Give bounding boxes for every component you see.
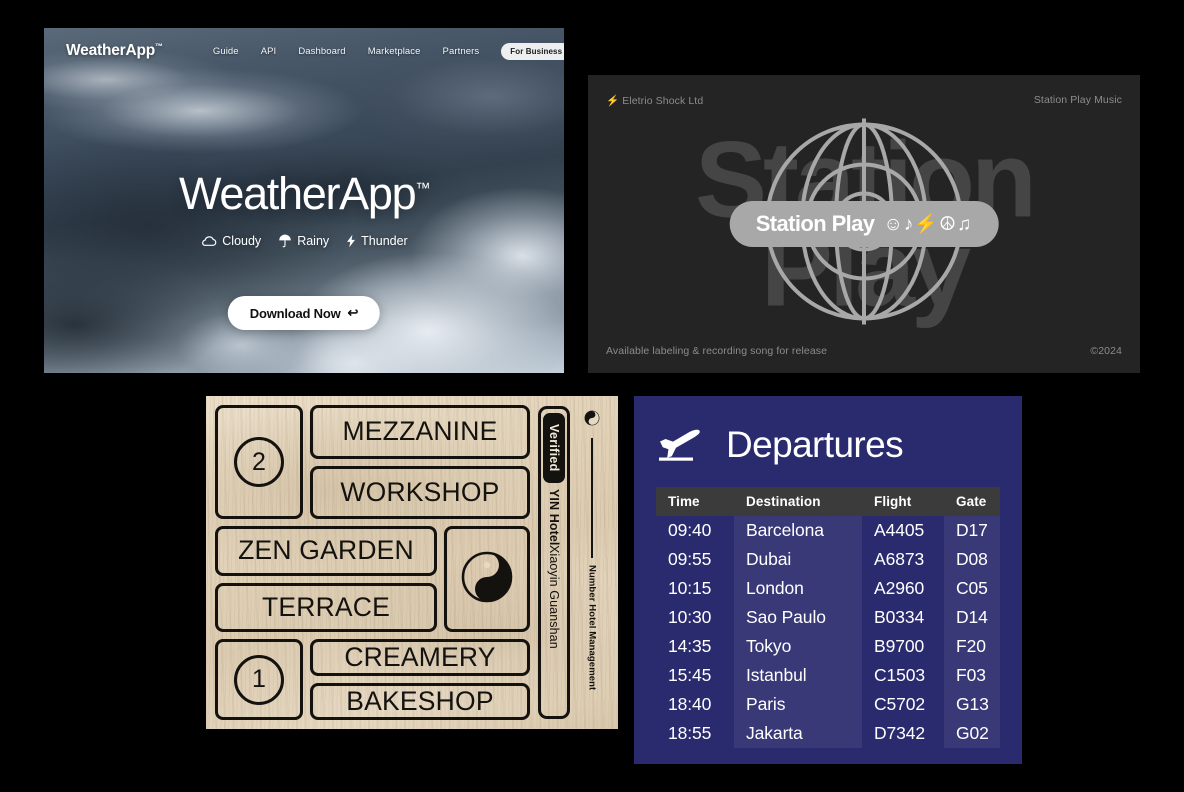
enter-arrow-icon: ↩ [348,305,359,321]
nav-link-guide[interactable]: Guide [213,46,239,57]
download-now-label: Download Now [250,306,341,321]
cell-time: 18:55 [656,719,734,748]
column-header-flight: Flight [862,487,944,516]
sign-room-mezzanine[interactable]: MEZZANINE [310,405,530,459]
table-row[interactable]: 18:55JakartaD7342G02 [656,719,1000,748]
condition-cloudy-label: Cloudy [222,234,261,248]
cell-gate: F03 [944,661,1000,690]
departures-board-panel: Departures Time Destination Flight Gate … [634,396,1022,764]
sign-side-column: Verified YIN Hotel Xiaoyin Guanshan Numb… [537,405,609,720]
departures-table-head: Time Destination Flight Gate [656,487,1000,516]
yin-yang-large-tile [444,526,530,632]
for-business-button[interactable]: For Business [501,43,564,60]
table-row[interactable]: 15:45IstanbulC1503F03 [656,661,1000,690]
cell-gate: D17 [944,516,1000,545]
sign-room-bakeshop-label: BAKESHOP [346,686,493,717]
station-play-emoji-row: ☺♪⚡☮♫ [883,212,972,236]
cloud-icon [200,235,217,247]
column-header-time: Time [656,487,734,516]
sign-room-bakeshop[interactable]: BAKESHOP [310,683,530,720]
cell-gate: D08 [944,545,1000,574]
cell-time: 14:35 [656,632,734,661]
cell-flight: C1503 [862,661,944,690]
station-bottom-meta: Available labeling & recording song for … [606,345,1122,357]
sign-middle-rooms: ZEN GARDEN TERRACE [215,526,437,632]
departures-header: Departures [656,422,1000,467]
nav-link-marketplace[interactable]: Marketplace [368,46,421,57]
cell-time: 10:30 [656,603,734,632]
table-row[interactable]: 18:40ParisC5702G13 [656,690,1000,719]
departures-table: Time Destination Flight Gate 09:40Barcel… [656,487,1000,748]
station-copyright: ©2024 [1090,345,1122,357]
nav-link-partners[interactable]: Partners [443,46,480,57]
sign-floor-1-rooms: CREAMERY BAKESHOP [310,639,530,720]
weather-brand-text: WeatherApp [66,42,155,59]
cell-gate: D14 [944,603,1000,632]
cell-flight: A2960 [862,574,944,603]
sign-main-grid: 2 MEZZANINE WORKSHOP ZEN GARDEN [215,405,530,720]
cell-flight: D7342 [862,719,944,748]
sign-room-terrace-label: TERRACE [262,592,390,623]
hotel-name-vertical: YIN Hotel Xiaoyin Guanshan [547,489,561,712]
cell-gate: G02 [944,719,1000,748]
rain-umbrella-icon [278,234,292,248]
sign-room-creamery-label: CREAMERY [344,642,495,673]
download-now-button[interactable]: Download Now ↩ [228,296,380,330]
yin-yang-small-icon [584,410,600,431]
cell-time: 18:40 [656,690,734,719]
condition-cloudy: Cloudy [200,234,261,248]
cell-destination: Jakarta [734,719,862,748]
collage-stage: WeatherApp™ Guide API Dashboard Marketpl… [0,0,1184,792]
sign-row-floor-2: 2 MEZZANINE WORKSHOP [215,405,530,519]
cell-destination: Barcelona [734,516,862,545]
sign-row-floor-1: 1 CREAMERY BAKESHOP [215,639,530,720]
cell-time: 09:55 [656,545,734,574]
verified-badge: Verified [543,413,565,483]
cell-flight: A6873 [862,545,944,574]
sign-row-middle: ZEN GARDEN TERRACE [215,526,530,632]
cell-destination: Tokyo [734,632,862,661]
cell-gate: G13 [944,690,1000,719]
cell-time: 10:15 [656,574,734,603]
station-play-badge[interactable]: Station Play ☺♪⚡☮♫ [730,201,999,247]
station-play-badge-label: Station Play [756,211,875,237]
departures-table-body: 09:40BarcelonaA4405D1709:55DubaiA6873D08… [656,516,1000,748]
hotel-name-bold: YIN Hotel [547,489,561,545]
cell-flight: B0334 [862,603,944,632]
weather-nav-links: Guide API Dashboard Marketplace Partners… [213,43,564,60]
cell-destination: Istanbul [734,661,862,690]
cell-destination: Paris [734,690,862,719]
sign-room-creamery[interactable]: CREAMERY [310,639,530,676]
sign-room-workshop[interactable]: WORKSHOP [310,466,530,520]
hotel-name-rest: Xiaoyin Guanshan [547,545,561,649]
condition-rainy: Rainy [278,234,329,248]
departures-header-row: Time Destination Flight Gate [656,487,1000,516]
cell-destination: Dubai [734,545,862,574]
floor-number-2: 2 [215,405,303,519]
station-tagline: Available labeling & recording song for … [606,345,827,357]
sign-side-right-column: Number Hotel Management [575,406,609,719]
floor-number-1: 1 [215,639,303,720]
table-row[interactable]: 10:15LondonA2960C05 [656,574,1000,603]
weather-app-panel: WeatherApp™ Guide API Dashboard Marketpl… [44,28,564,373]
cell-destination: Sao Paulo [734,603,862,632]
departures-title: Departures [726,424,903,466]
sign-room-mezzanine-label: MEZZANINE [343,416,498,447]
floor-number-1-circle: 1 [234,655,284,705]
weather-brand-logo[interactable]: WeatherApp™ [66,42,163,60]
column-header-destination: Destination [734,487,862,516]
column-header-gate: Gate [944,487,1000,516]
cell-flight: C5702 [862,690,944,719]
weather-brand-tm: ™ [155,42,163,51]
hotel-identity-card: Verified YIN Hotel Xiaoyin Guanshan [538,406,570,719]
cell-flight: A4405 [862,516,944,545]
sign-room-terrace[interactable]: TERRACE [215,583,437,633]
cell-gate: F20 [944,632,1000,661]
side-divider-rule [591,438,593,558]
table-row[interactable]: 14:35TokyoB9700F20 [656,632,1000,661]
table-row[interactable]: 09:55DubaiA6873D08 [656,545,1000,574]
weather-conditions-list: Cloudy Rainy Thunder [200,234,407,248]
hotel-wooden-sign-panel: 2 MEZZANINE WORKSHOP ZEN GARDEN [206,396,618,729]
hero-title: WeatherApp™ [179,168,429,220]
station-play-panel: ⚡ Eletrio Shock Ltd Station Play Music S… [588,75,1140,373]
weather-navbar: WeatherApp™ Guide API Dashboard Marketpl… [44,28,564,74]
airplane-takeoff-icon [656,422,710,467]
condition-thunder-label: Thunder [361,234,408,248]
management-label: Number Hotel Management [587,565,598,690]
station-product-label: Station Play Music [1034,94,1122,107]
floor-number-2-circle: 2 [234,437,284,487]
hero-title-tm: ™ [415,180,429,197]
nav-link-dashboard[interactable]: Dashboard [298,46,345,57]
condition-rainy-label: Rainy [297,234,329,248]
sign-room-workshop-label: WORKSHOP [340,477,499,508]
cell-gate: C05 [944,574,1000,603]
condition-thunder: Thunder [346,234,408,248]
lightning-bolt-icon [346,234,356,248]
sign-room-zen-garden[interactable]: ZEN GARDEN [215,526,437,576]
cell-destination: London [734,574,862,603]
cell-time: 09:40 [656,516,734,545]
cell-flight: B9700 [862,632,944,661]
cell-time: 15:45 [656,661,734,690]
sign-floor-2-rooms: MEZZANINE WORKSHOP [310,405,530,519]
station-top-meta: ⚡ Eletrio Shock Ltd Station Play Music [606,94,1122,107]
sign-room-zen-garden-label: ZEN GARDEN [238,535,414,566]
table-row[interactable]: 09:40BarcelonaA4405D17 [656,516,1000,545]
table-row[interactable]: 10:30Sao PauloB0334D14 [656,603,1000,632]
station-company-label: ⚡ Eletrio Shock Ltd [606,94,703,107]
yin-yang-icon [460,550,514,609]
hero-title-text: WeatherApp [179,168,415,219]
nav-link-api[interactable]: API [261,46,277,57]
